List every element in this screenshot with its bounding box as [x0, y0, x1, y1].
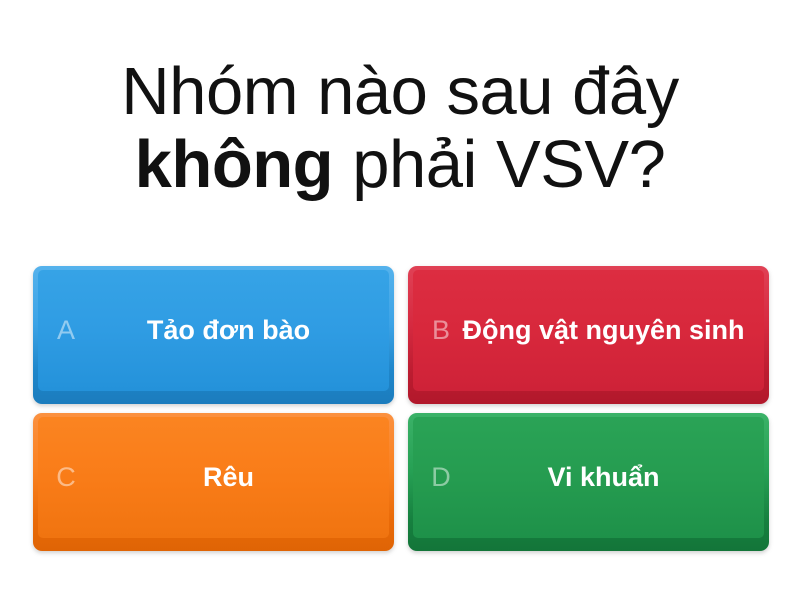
answer-option-c-content: C Rêu [33, 413, 394, 542]
answer-options-grid: A Tảo đơn bào B Động vật nguyên sinh C R… [33, 266, 769, 551]
answer-option-c[interactable]: C Rêu [33, 413, 394, 551]
question-text: Nhóm nào sau đây không phải VSV? [18, 56, 782, 201]
answer-option-a-content: A Tảo đơn bào [33, 266, 394, 395]
answer-label-d: Vi khuẩn [458, 462, 753, 492]
answer-option-a[interactable]: A Tảo đơn bào [33, 266, 394, 404]
answer-letter-a: A [49, 317, 83, 344]
question-prefix: Nhóm nào sau đây [121, 54, 678, 129]
answer-option-d[interactable]: D Vi khuẩn [408, 413, 769, 551]
question-area: Nhóm nào sau đây không phải VSV? [0, 26, 800, 231]
answer-label-b: Động vật nguyên sinh [458, 315, 753, 345]
question-emphasis: không [135, 127, 333, 202]
question-suffix: phải VSV? [333, 127, 665, 202]
answer-label-a: Tảo đơn bào [83, 315, 378, 345]
answer-label-c: Rêu [83, 462, 378, 492]
answer-letter-c: C [49, 464, 83, 491]
quiz-screen: Nhóm nào sau đây không phải VSV? A Tảo đ… [0, 0, 800, 600]
answer-option-b-content: B Động vật nguyên sinh [408, 266, 769, 395]
answer-option-d-content: D Vi khuẩn [408, 413, 769, 542]
answer-option-b[interactable]: B Động vật nguyên sinh [408, 266, 769, 404]
answer-letter-d: D [424, 464, 458, 491]
answer-letter-b: B [424, 317, 458, 344]
